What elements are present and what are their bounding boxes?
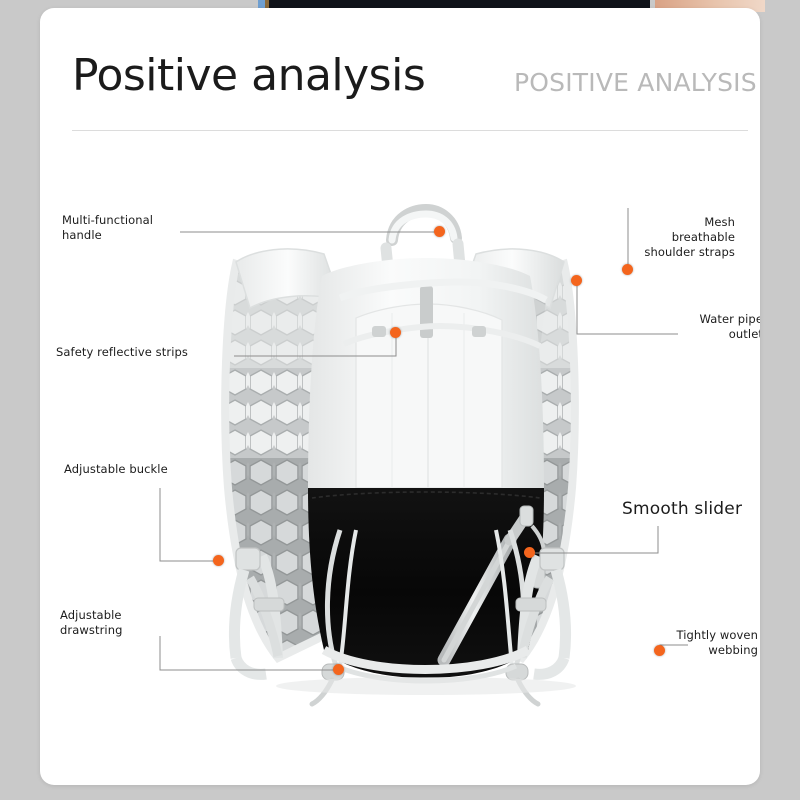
annotation-label-adjustable-drawstring: Adjustable drawstring [60, 608, 123, 638]
annotation-label-tightly-woven-webbing: Tightly woven webbing [578, 628, 758, 658]
header: Positive analysis POSITIVE ANALYSIS [72, 54, 752, 146]
marker-water-pipe-outlet[interactable] [571, 275, 582, 286]
marker-smooth-slider[interactable] [524, 547, 535, 558]
marker-mesh-breathable-shoulder-straps[interactable] [622, 264, 633, 275]
header-divider [72, 130, 748, 131]
infographic-card: Positive analysis POSITIVE ANALYSIS [40, 8, 760, 785]
marker-safety-reflective-strips[interactable] [390, 327, 401, 338]
annotation-label-safety-reflective-strips: Safety reflective strips [56, 345, 188, 360]
annotation-label-mesh-breathable-shoulder-straps: Mesh breathable shoulder straps [555, 215, 735, 261]
page-title: Positive analysis [72, 54, 425, 98]
marker-adjustable-drawstring[interactable] [333, 664, 344, 675]
marker-multi-functional-handle[interactable] [434, 226, 445, 237]
marker-adjustable-buckle[interactable] [213, 555, 224, 566]
page-subtitle: POSITIVE ANALYSIS [514, 70, 757, 95]
annotation-label-adjustable-buckle: Adjustable buckle [64, 462, 168, 477]
annotation-label-multi-functional-handle: Multi-functional handle [62, 213, 153, 243]
annotation-label-smooth-slider: Smooth slider [622, 498, 742, 520]
annotation-label-water-pipe-outlet: Water pipe outlet [583, 312, 760, 342]
